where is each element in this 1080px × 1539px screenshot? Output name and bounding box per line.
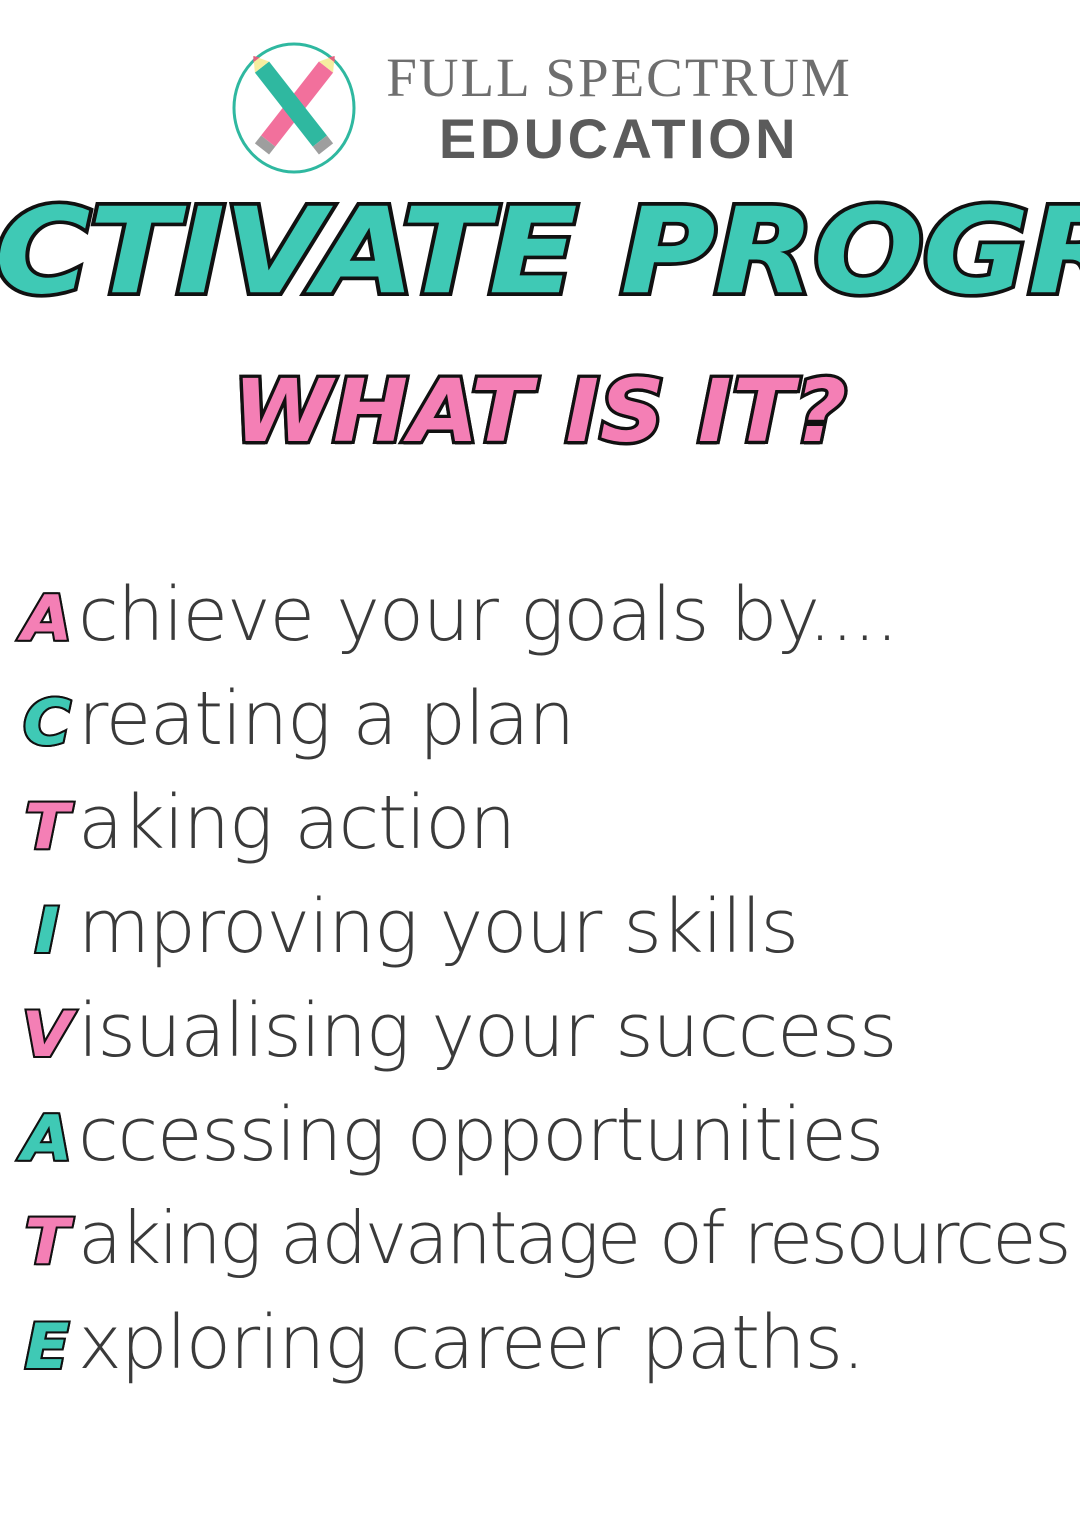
list-item: A chieve your goals by....: [18, 578, 1068, 682]
page-title: ACTIVATE PROGRAM: [0, 196, 1080, 308]
page-subtitle: WHAT IS IT?: [0, 372, 1080, 452]
list-item: V isualising your success: [18, 994, 1068, 1098]
acrostic-list: A chieve your goals by.... C reating a p…: [18, 578, 1068, 1410]
drop-cap-letter: I: [17, 900, 78, 962]
brand-logo-block: FULL SPECTRUM EDUCATION: [0, 28, 1080, 188]
drop-cap-letter: C: [17, 692, 78, 754]
brand-wordmark: FULL SPECTRUM EDUCATION: [386, 50, 852, 167]
list-item: E xploring career paths.: [18, 1306, 1068, 1410]
drop-cap-letter: T: [17, 796, 78, 858]
brand-name-line2: EDUCATION: [439, 111, 799, 167]
list-item-text: aking advantage of resources: [78, 1202, 1069, 1274]
list-item: A ccessing opportunities: [18, 1098, 1068, 1202]
list-item: T aking action: [18, 786, 1068, 890]
list-item-text: aking action: [78, 786, 515, 860]
drop-cap-letter: A: [17, 588, 78, 650]
page-subtitle-text: WHAT IS IT?: [233, 369, 848, 455]
list-item-text: isualising your success: [78, 994, 896, 1068]
list-item-text: xploring career paths.: [78, 1306, 864, 1380]
drop-cap-letter: T: [17, 1211, 78, 1273]
list-item: C reating a plan: [18, 682, 1068, 786]
drop-cap-letter: V: [17, 1004, 78, 1066]
list-item-text: reating a plan: [78, 682, 574, 756]
drop-cap-letter: A: [17, 1108, 78, 1170]
list-item-text: mproving your skills: [78, 890, 798, 964]
brand-name-line1: FULL SPECTRUM: [386, 50, 852, 105]
crossed-pencils-circle-logo: [228, 38, 360, 178]
list-item: I mproving your skills: [18, 890, 1068, 994]
list-item: T aking advantage of resources: [18, 1202, 1068, 1306]
page-title-text: ACTIVATE PROGRAM: [0, 193, 1080, 312]
list-item-text: ccessing opportunities: [78, 1098, 883, 1172]
list-item-text: chieve your goals by....: [78, 578, 898, 652]
drop-cap-letter: E: [17, 1316, 78, 1378]
